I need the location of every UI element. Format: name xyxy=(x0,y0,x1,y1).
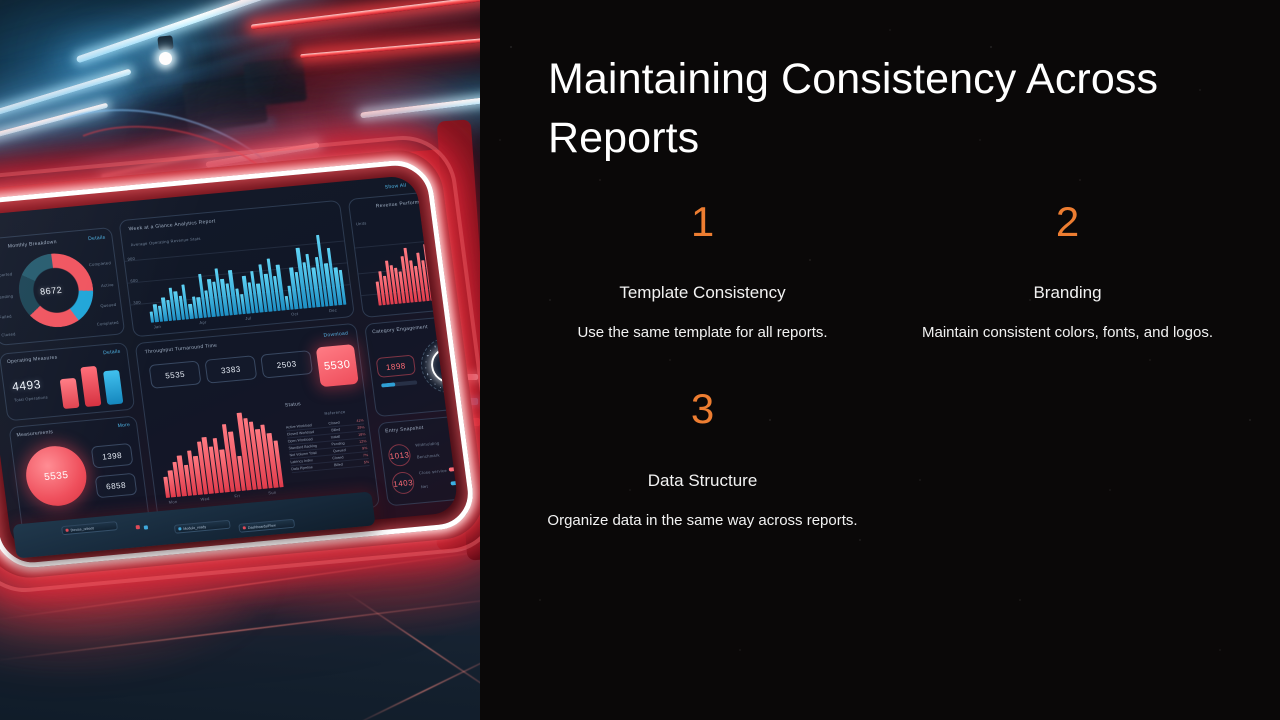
donut-legend-0: Reported xyxy=(0,271,13,278)
gauge-tick xyxy=(425,367,427,369)
donut-legend-2: Pending xyxy=(0,293,13,300)
cyan-x-tick-9: Oct xyxy=(291,311,299,317)
gauge-left-box: 1898 xyxy=(376,355,416,378)
throughput-x-tick-2: Wed xyxy=(200,496,210,502)
item-3-description: Organize data in the same way across rep… xyxy=(542,509,863,533)
throughput-stat-box-2: 3383 xyxy=(204,355,257,383)
donut-legend-1: Completed xyxy=(89,260,112,267)
progress-badge-1-value: 1013 xyxy=(389,450,410,461)
throughput-table-title: Status xyxy=(285,401,302,408)
donut-legend-5: Closed xyxy=(1,331,16,337)
ops-mini-bar-1 xyxy=(60,378,80,409)
metrics-card-action[interactable]: More xyxy=(117,422,130,429)
throughput-highlight-box: 5530 xyxy=(316,344,359,387)
throughput-stat-1-value: 5535 xyxy=(165,369,186,380)
red-bar-axis-label: Units xyxy=(356,220,367,226)
ops-kpi-caption: Total Operations xyxy=(14,394,48,402)
cyan-y-tick-0: 900 xyxy=(127,256,135,262)
table-cell-status: Pending xyxy=(331,441,345,446)
ceiling-duct-2 xyxy=(243,57,307,107)
spotlight-icon xyxy=(159,52,172,65)
progress-row-label-1: Benchmark xyxy=(417,452,441,459)
list-item-3: 3 Data Structure Organize data in the sa… xyxy=(520,387,885,532)
item-2-heading: Branding xyxy=(907,282,1228,304)
gauge-left-value: 1898 xyxy=(385,361,406,372)
progress-badge-2: 1403 xyxy=(391,471,416,495)
gauge-tick xyxy=(435,346,437,348)
progress-row-label-2: Close service xyxy=(419,468,447,476)
cyan-x-tick-6: Jul xyxy=(245,315,252,321)
donut-legend-3: Active xyxy=(101,282,114,288)
key-indicator-2 xyxy=(178,527,181,530)
throughput-stat-3-value: 2503 xyxy=(276,359,297,370)
table-cell-value: 18% xyxy=(358,432,366,437)
throughput-stat-2-value: 3383 xyxy=(220,364,241,375)
progress-row-label-0: Withholding xyxy=(415,440,440,447)
cyan-bar-chart xyxy=(142,233,347,323)
metrics-box-2: 6858 xyxy=(95,473,138,499)
cyan-x-tick-3: Apr xyxy=(199,320,207,326)
ops-card: Operating Measures Details 4493 Total Op… xyxy=(0,342,135,421)
items-grid: 1 Template Consistency Use the same temp… xyxy=(520,200,1250,533)
donut-center-value: 8672 xyxy=(39,285,62,297)
throughput-highlight-value: 5530 xyxy=(323,358,351,372)
cyan-y-tick-3: 600 xyxy=(130,278,138,284)
spotlight-mount xyxy=(157,35,173,50)
progress-card-title: Entry Snapshot xyxy=(385,425,424,434)
throughput-bar-chart xyxy=(156,410,284,498)
ops-card-title: Operating Measures xyxy=(7,354,58,365)
table-cell-value: 41% xyxy=(356,418,364,423)
cyan-y-tick-6: 300 xyxy=(133,300,141,306)
table-cell-status: Billed xyxy=(334,462,343,467)
content-panel: Maintaining Consistency Across Reports 1… xyxy=(480,0,1280,720)
key-led-blue xyxy=(144,525,149,529)
ops-mini-bar-2 xyxy=(80,366,101,407)
neon-dashboard-photo: Show All Monthly Breakdown Details Repor… xyxy=(0,0,480,720)
table-cell-status: Install xyxy=(330,435,340,440)
gauge-tick xyxy=(430,379,432,381)
list-item-1: 1 Template Consistency Use the same temp… xyxy=(520,200,885,345)
throughput-x-tick-4: Fri xyxy=(234,493,240,498)
dashboard-screen: Show All Monthly Breakdown Details Repor… xyxy=(0,175,459,554)
table-cell-label: Latency Index xyxy=(290,458,313,464)
metrics-box-2-value: 6858 xyxy=(106,480,127,491)
key-device-reboot[interactable]: Device_reboot xyxy=(61,521,118,535)
key-indicator-3 xyxy=(243,526,246,529)
donut-card-action[interactable]: Details xyxy=(88,235,106,243)
item-3-heading: Data Structure xyxy=(542,470,863,492)
key-dashboards-flow-label: Dashboards/Flow xyxy=(248,523,276,530)
item-1-heading: Template Consistency xyxy=(542,282,863,304)
ops-mini-bar-3 xyxy=(103,370,123,405)
donut-legend-extra: Completed xyxy=(96,320,119,327)
ops-kpi-value: 4493 xyxy=(11,377,41,394)
table-cell-label: Data Pipeline xyxy=(291,465,313,471)
gauge-tick xyxy=(440,387,442,389)
metrics-circle-value: 5535 xyxy=(43,469,69,482)
table-cell-value: 7% xyxy=(363,453,369,457)
table-cell-status: Queued xyxy=(333,448,346,453)
metrics-card-title: Measurements xyxy=(16,429,53,438)
gauge-progress-fill xyxy=(381,382,396,387)
cyan-bar-card-title: Week at a Glance Analytics Report xyxy=(128,218,216,232)
table-cell-status: Billed xyxy=(331,428,340,433)
donut-legend-4: Failed xyxy=(0,314,12,320)
throughput-x-tick-0: Mon xyxy=(168,499,177,505)
donut-card-title: Monthly Breakdown xyxy=(8,239,58,249)
cyan-x-tick-0: Jan xyxy=(153,324,161,330)
progress-badge-2-value: 1403 xyxy=(393,478,414,489)
donut-card: Monthly Breakdown Details Reported Pendi… xyxy=(0,227,125,346)
slide-root: Show All Monthly Breakdown Details Repor… xyxy=(0,0,1280,720)
table-cell-status: Closed xyxy=(328,421,340,426)
progress-card: Entry Snapshot Overview 1013 1403 Withho… xyxy=(377,409,459,506)
donut-legend-6: Queued xyxy=(100,302,117,308)
key-indicator-1 xyxy=(65,529,68,532)
cyan-bar-card: Week at a Glance Analytics Report Averag… xyxy=(118,200,355,338)
gauge-card-title: Category Engagement xyxy=(372,324,428,335)
page-title: Maintaining Consistency Across Reports xyxy=(548,50,1208,169)
throughput-table-header-0: Reference xyxy=(324,409,346,416)
key-dashboards-flow[interactable]: Dashboards/Flow xyxy=(238,519,295,533)
cyan-bar-card-subtitle: Average Operating Revenue Stats xyxy=(130,236,201,247)
gauge-tick xyxy=(425,361,427,363)
table-cell-value: 29% xyxy=(357,425,365,430)
table-cell-value: 9% xyxy=(362,446,368,450)
key-led-red xyxy=(136,525,141,529)
metrics-box-1: 1398 xyxy=(91,443,134,469)
cyan-x-tick-11: Dec xyxy=(329,307,338,313)
key-module-ready-label: Module_ready xyxy=(183,524,206,530)
gauge-tick xyxy=(430,350,432,352)
screen-top-action[interactable]: Show All xyxy=(384,183,406,191)
progress-row-label-3: Net xyxy=(420,484,428,490)
table-cell-status: Closed xyxy=(332,455,344,460)
key-module-ready[interactable]: Module_ready xyxy=(174,520,231,534)
item-2-number: 2 xyxy=(907,200,1228,244)
key-device-reboot-label: Device_reboot xyxy=(70,526,94,532)
throughput-card-action[interactable]: Download xyxy=(323,331,348,339)
throughput-stat-box-3: 2503 xyxy=(260,350,313,378)
list-item-2: 2 Branding Maintain consistent colors, f… xyxy=(885,200,1250,345)
gauge-progress xyxy=(381,380,417,387)
item-2-description: Maintain consistent colors, fonts, and l… xyxy=(907,321,1228,345)
item-3-number: 3 xyxy=(542,387,863,431)
gauge-tick xyxy=(427,373,429,375)
item-1-number: 1 xyxy=(542,200,863,244)
gauge-tick xyxy=(434,384,436,386)
item-1-description: Use the same template for all reports. xyxy=(542,321,863,345)
throughput-stat-box-1: 5535 xyxy=(149,360,202,388)
table-cell-value: 5% xyxy=(364,460,370,464)
table-cell-value: 12% xyxy=(359,439,367,444)
throughput-card-title: Throughput Turnaround Time xyxy=(144,343,217,356)
throughput-mini-table: Active WorkloadClosed41%Closed WorkloadB… xyxy=(286,417,370,473)
metrics-box-1-value: 1398 xyxy=(102,450,123,461)
gauge-tick xyxy=(427,355,429,357)
ops-card-action[interactable]: Details xyxy=(103,349,121,357)
metrics-circle: 5535 xyxy=(22,443,90,508)
throughput-x-tick-6: Sun xyxy=(268,490,277,496)
progress-badge-1: 1013 xyxy=(387,443,412,467)
